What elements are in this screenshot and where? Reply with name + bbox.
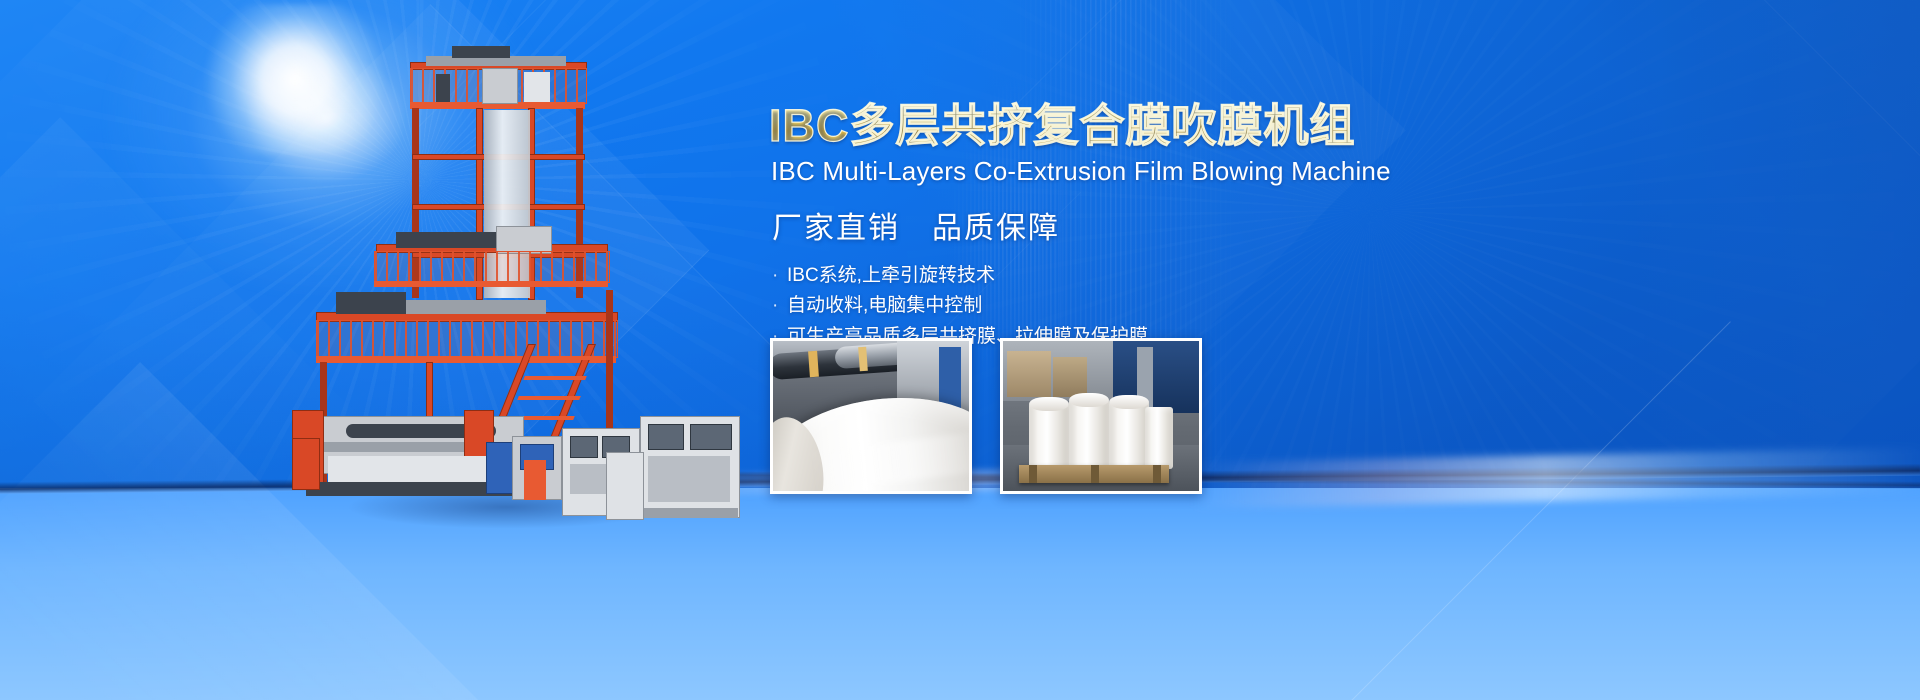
photo-pallet-slat xyxy=(1029,465,1037,483)
machine-guard xyxy=(524,460,546,500)
machine-base xyxy=(640,508,738,518)
control-screen xyxy=(690,424,732,450)
photo-roll-cap xyxy=(1029,397,1069,411)
hero-banner: IBC多层共挤复合膜吹膜机组 IBC多层共挤复合膜吹膜机组 IBC Multi-… xyxy=(0,0,1920,700)
machine-part xyxy=(336,292,406,314)
control-cabinet-small xyxy=(606,452,644,520)
machine-guard xyxy=(292,438,320,490)
machine-railing xyxy=(374,251,610,283)
machine-photo xyxy=(276,44,746,524)
page-title: IBC多层共挤复合膜吹膜机组 xyxy=(769,103,1529,148)
machine-part xyxy=(436,74,450,102)
photo-film-roll xyxy=(770,338,972,494)
photo-roll xyxy=(1029,403,1069,469)
photo-stacked-rolls xyxy=(1000,338,1202,494)
control-panel-face xyxy=(648,456,730,502)
list-item: ·自动收料,电脑集中控制 xyxy=(772,291,1529,322)
photo-roll-cap xyxy=(1069,393,1109,407)
machine-part xyxy=(396,300,546,314)
list-item: ·IBC系统,上牵引旋转技术 xyxy=(772,261,1529,292)
photo-roller-band xyxy=(858,347,868,371)
banner-title-wrap: IBC多层共挤复合膜吹膜机组 IBC多层共挤复合膜吹膜机组 xyxy=(769,103,1529,148)
banner-copy: IBC多层共挤复合膜吹膜机组 IBC多层共挤复合膜吹膜机组 IBC Multi-… xyxy=(769,103,1529,353)
photo-roll xyxy=(1145,407,1173,469)
photo-roll xyxy=(1069,399,1109,469)
photo-roller-band xyxy=(808,351,819,378)
machine-part xyxy=(524,72,550,102)
machine-part xyxy=(328,456,498,482)
machine-part xyxy=(374,281,608,287)
list-item-label: 自动收料,电脑集中控制 xyxy=(787,295,982,316)
machine-part xyxy=(482,68,518,104)
photo-crate xyxy=(1007,351,1051,397)
photo-roll xyxy=(1109,401,1149,469)
photo-crate xyxy=(1053,357,1087,397)
photo-pallet-slat xyxy=(1153,465,1161,483)
machine-part xyxy=(496,226,552,254)
list-item-label: IBC系统,上牵引旋转技术 xyxy=(787,265,995,286)
photo-pallet-slat xyxy=(1091,465,1099,483)
bullet-dot-icon: · xyxy=(772,261,787,292)
photo-machine-accent xyxy=(939,347,961,409)
page-subtitle: IBC Multi-Layers Co-Extrusion Film Blowi… xyxy=(771,157,1529,186)
machine-part xyxy=(452,46,510,58)
photo-roll-cap xyxy=(1109,395,1149,409)
tagline: 厂家直销 品质保障 xyxy=(772,212,1529,245)
control-screen xyxy=(648,424,684,450)
bullet-dot-icon: · xyxy=(772,291,787,322)
control-screen xyxy=(570,436,598,458)
